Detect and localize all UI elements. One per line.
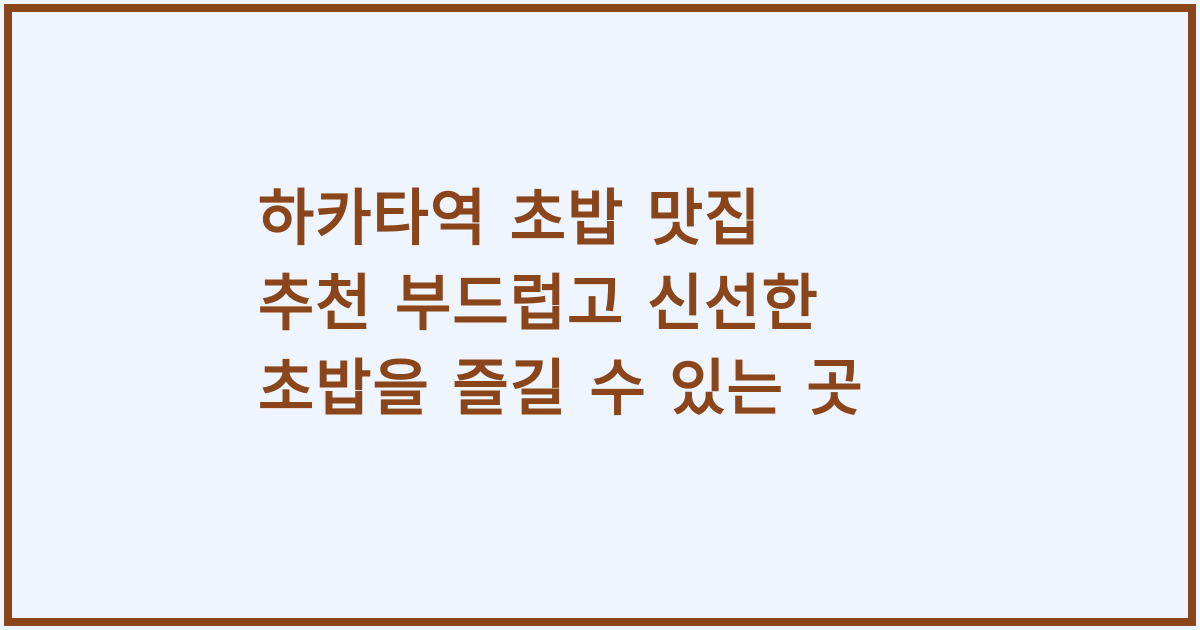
headline-block: 하카타역 초밥 맛집 추천 부드럽고 신선한 초밥을 즐길 수 있는 곳: [258, 176, 1018, 431]
headline-line-1: 하카타역 초밥 맛집: [258, 176, 1018, 261]
headline-line-2: 추천 부드럽고 신선한: [258, 261, 1018, 346]
thumbnail-canvas: 하카타역 초밥 맛집 추천 부드럽고 신선한 초밥을 즐길 수 있는 곳: [0, 0, 1200, 630]
headline-line-3: 초밥을 즐길 수 있는 곳: [258, 346, 1018, 431]
